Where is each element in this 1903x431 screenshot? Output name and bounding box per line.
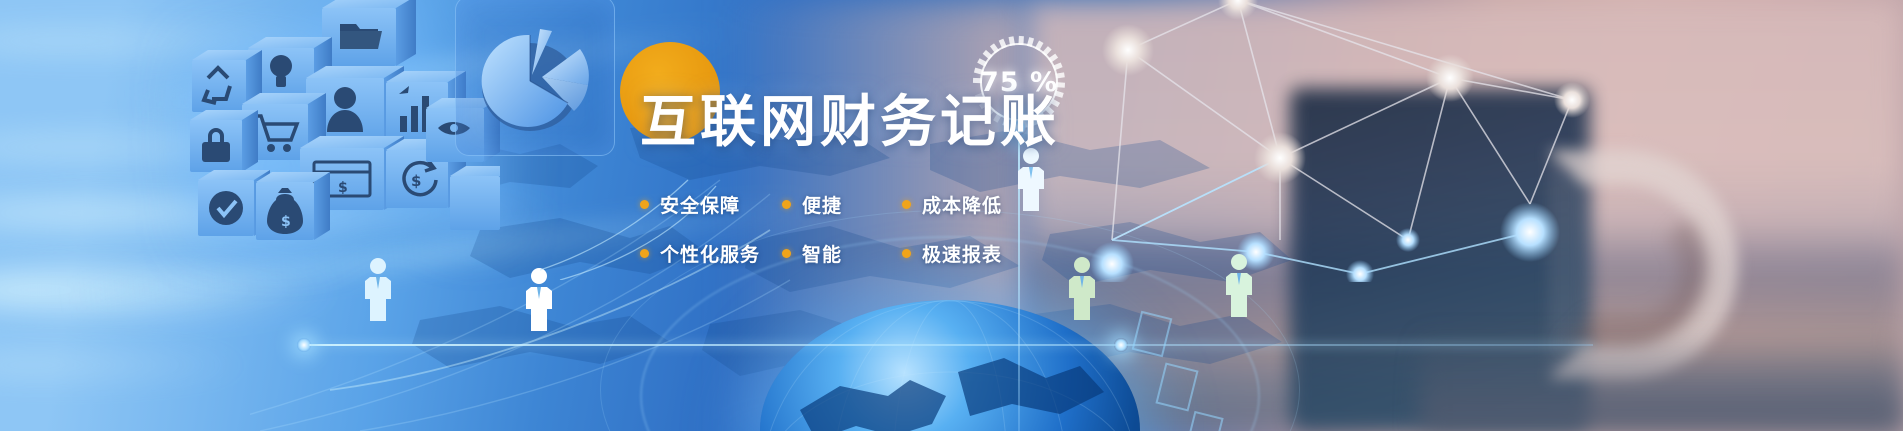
feature-item: 个性化服务 <box>640 240 782 267</box>
feature-row: 个性化服务 智能 极速报表 <box>640 240 1280 267</box>
cube-lock <box>190 110 258 172</box>
bullet-dot-icon <box>640 200 649 209</box>
bullet-dot-icon <box>640 249 649 258</box>
svg-text:$: $ <box>338 180 348 196</box>
feature-row: 安全保障 便捷 成本降低 <box>640 191 1280 218</box>
feature-item: 极速报表 <box>902 240 1062 267</box>
pie-chart-icon <box>462 1 612 151</box>
feature-list: 安全保障 便捷 成本降低 个性化服务 智能 <box>640 191 1280 267</box>
feature-label: 智能 <box>802 240 842 267</box>
feature-label: 个性化服务 <box>660 240 760 267</box>
feature-label: 极速报表 <box>922 240 1002 267</box>
bullet-dot-icon <box>902 249 911 258</box>
feature-item: 便捷 <box>782 191 902 218</box>
baseline-node <box>297 338 311 352</box>
bullet-dot-icon <box>782 249 791 258</box>
businessman-icon <box>361 256 395 322</box>
bullet-dot-icon <box>902 200 911 209</box>
page-title: 互联网财务记账 <box>640 95 1280 151</box>
promo-banner: $ $ <box>0 0 1903 431</box>
bullet-dot-icon <box>782 200 791 209</box>
pie-chart-panel <box>455 0 615 156</box>
baseline-rule <box>303 344 1593 346</box>
cube-money-bag: $ <box>256 172 330 240</box>
svg-text:$: $ <box>411 172 421 190</box>
icon-cube-stack: $ $ <box>170 0 500 260</box>
check-circle-icon <box>209 191 243 225</box>
svg-text:$: $ <box>281 214 291 230</box>
feature-item: 成本降低 <box>902 191 1062 218</box>
cube-extra <box>450 166 500 230</box>
businessman-icon <box>522 266 556 332</box>
banner-content: 互联网财务记账 安全保障 便捷 成本降低 个性化服务 <box>640 95 1280 289</box>
feature-label: 便捷 <box>802 191 842 218</box>
feature-label: 成本降低 <box>922 191 1002 218</box>
baseline-node <box>1114 338 1128 352</box>
feature-item: 智能 <box>782 240 902 267</box>
feature-item: 安全保障 <box>640 191 782 218</box>
cube-folder <box>322 0 416 66</box>
feature-label: 安全保障 <box>660 191 740 218</box>
